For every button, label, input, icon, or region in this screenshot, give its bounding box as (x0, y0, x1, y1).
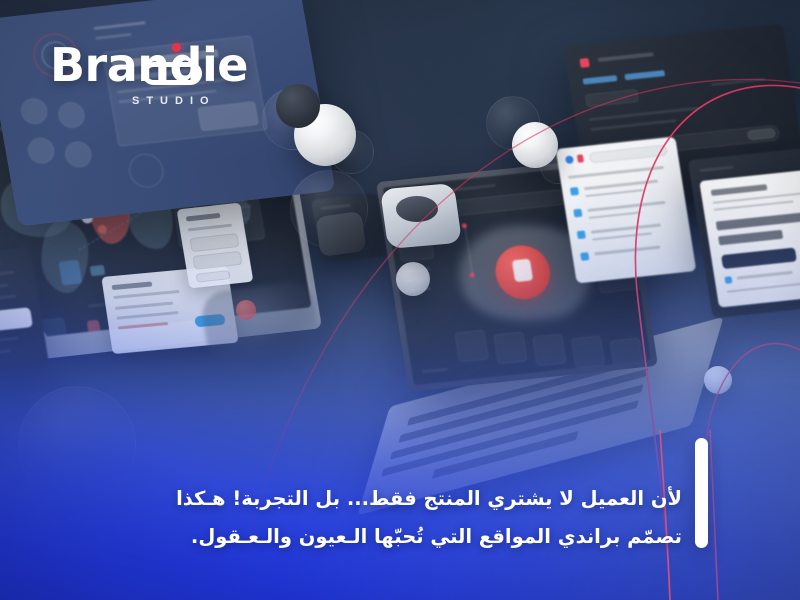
logo-subtitle: STUDIO (132, 95, 248, 107)
headline-accent-bar (695, 438, 708, 548)
logo-accent-dot (172, 43, 181, 52)
headline-line-1: لأن العميل لا يشتري المنتج فقط... بل الت… (82, 480, 682, 518)
headline-block: لأن العميل لا يشتري المنتج فقط... بل الت… (82, 480, 682, 556)
banner-canvas: Brandie STUDIO لأن العميل لا يشتري المنت… (0, 0, 800, 600)
headline-line-2: تصمّم براندي المواقع التي تُحبّها الـعيو… (82, 518, 682, 556)
brand-logo: Brandie STUDIO (50, 42, 248, 107)
logo-wordmark: Brandie (50, 42, 248, 88)
logo-loop-mark (142, 62, 202, 85)
